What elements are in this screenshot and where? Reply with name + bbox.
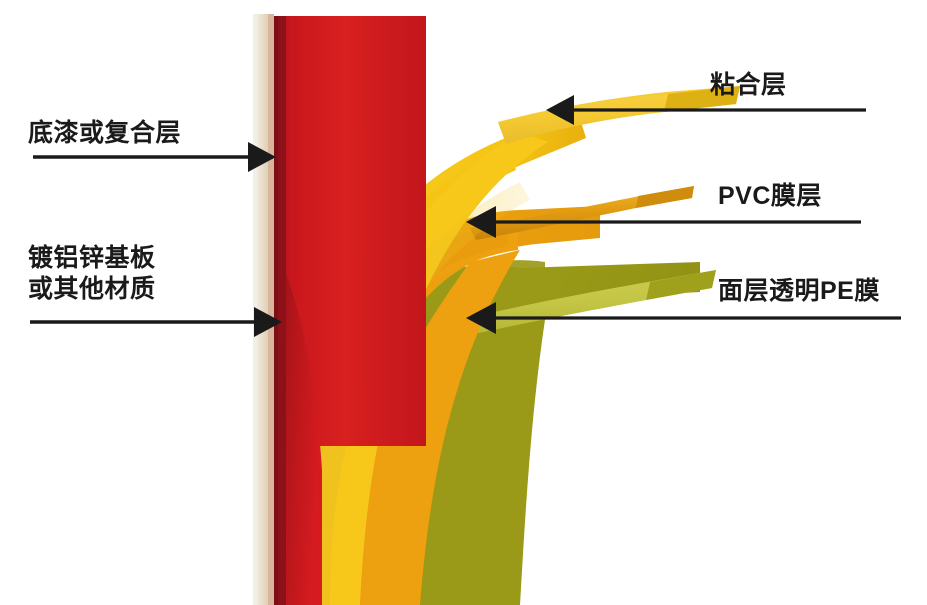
- label-pe-layer: 面层透明PE膜: [718, 276, 880, 307]
- diagram-canvas: 底漆或复合层 镀铝锌基板 或其他材质 粘合层 PVC膜层 面层透明PE膜: [0, 0, 927, 605]
- label-substrate-panel-line-2: 或其他材质: [28, 274, 156, 305]
- label-adhesive-layer-line-1: 粘合层: [710, 70, 787, 101]
- adhesive-layer-tip: [498, 86, 740, 144]
- label-primer-layer: 底漆或复合层: [28, 118, 181, 149]
- label-substrate-panel-line-1: 镀铝锌基板: [28, 243, 156, 274]
- label-primer-layer-line-1: 底漆或复合层: [28, 118, 181, 149]
- label-pe-layer-line-1: 面层透明PE膜: [718, 276, 880, 307]
- label-pvc-layer-line-1: PVC膜层: [718, 181, 822, 212]
- label-adhesive-layer: 粘合层: [710, 70, 787, 101]
- arrow-to-substrate-panel: [30, 307, 282, 337]
- label-substrate-panel: 镀铝锌基板 或其他材质: [28, 243, 156, 305]
- label-pvc-layer: PVC膜层: [718, 181, 822, 212]
